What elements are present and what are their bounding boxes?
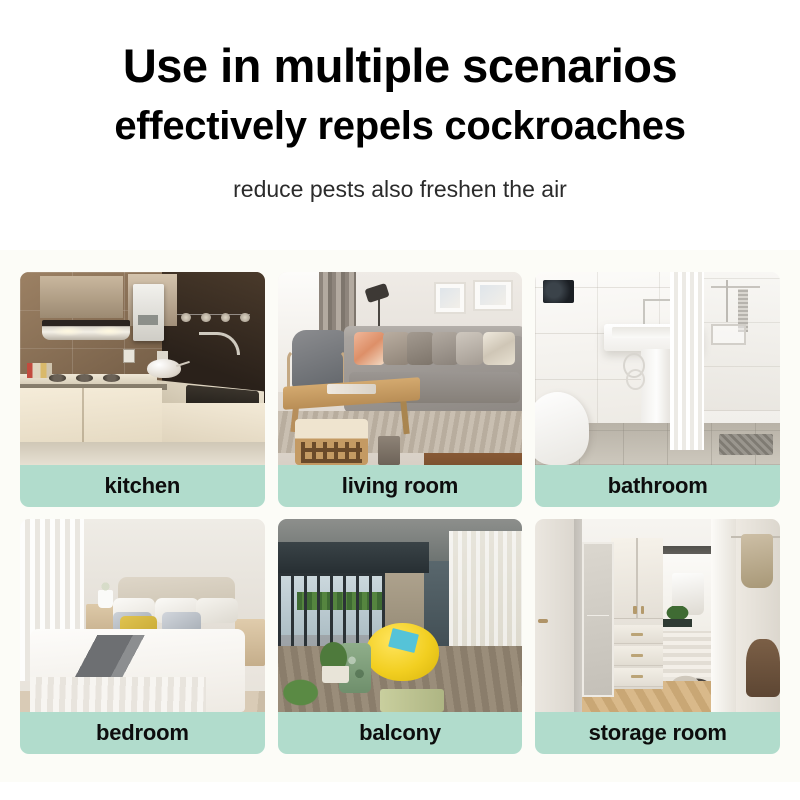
- scenario-label-storage-room: storage room: [535, 712, 780, 754]
- scenario-label-living-room: living room: [278, 465, 523, 507]
- scenario-card-living-room[interactable]: living room: [278, 272, 523, 507]
- scenario-grid: kitchen: [0, 250, 800, 782]
- headline-line-1: Use in multiple scenarios: [0, 42, 800, 89]
- storage-room-photo: [535, 519, 780, 712]
- headline-line-2: effectively repels cockroaches: [0, 106, 800, 146]
- bedroom-photo: [20, 519, 265, 712]
- scenario-label-kitchen: kitchen: [20, 465, 265, 507]
- bathroom-photo: [535, 272, 780, 465]
- kitchen-photo: [20, 272, 265, 465]
- promo-page: Use in multiple scenarios effectively re…: [0, 0, 800, 800]
- living-room-photo: [278, 272, 523, 465]
- header: Use in multiple scenarios effectively re…: [0, 0, 800, 203]
- scenario-label-balcony: balcony: [278, 712, 523, 754]
- balcony-photo: [278, 519, 523, 712]
- scenario-label-bedroom: bedroom: [20, 712, 265, 754]
- scenario-card-storage-room[interactable]: storage room: [535, 519, 780, 754]
- scenario-label-bathroom: bathroom: [535, 465, 780, 507]
- subheadline: reduce pests also freshen the air: [0, 176, 800, 203]
- scenario-card-bedroom[interactable]: bedroom: [20, 519, 265, 754]
- scenario-card-balcony[interactable]: balcony: [278, 519, 523, 754]
- scenario-card-kitchen[interactable]: kitchen: [20, 272, 265, 507]
- scenario-card-bathroom[interactable]: bathroom: [535, 272, 780, 507]
